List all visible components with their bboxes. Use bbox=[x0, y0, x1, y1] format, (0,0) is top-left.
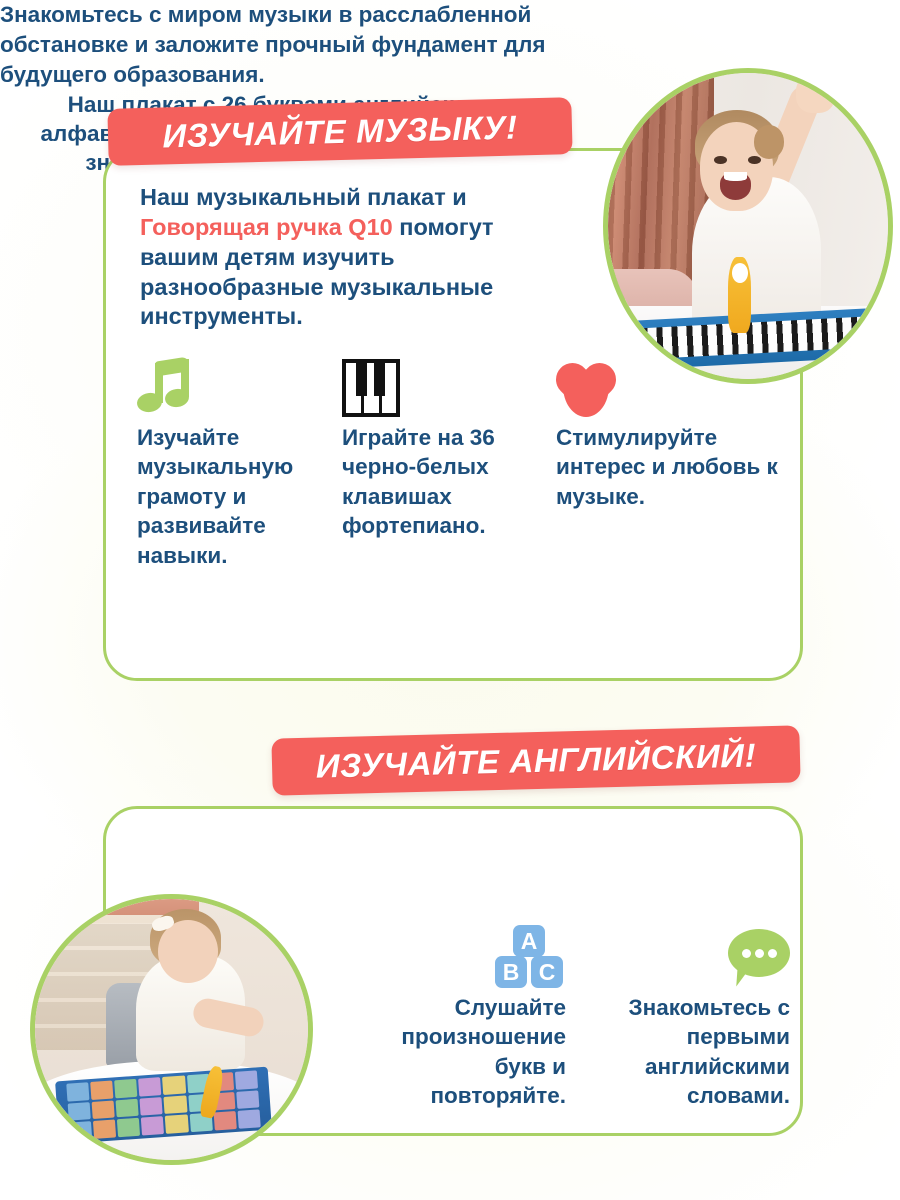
talking-pen-highlight: Говорящая ручка Q10 bbox=[140, 214, 393, 240]
music-intro-part1: Наш музыкальный плакат и bbox=[140, 184, 467, 210]
english-feature-1: A B C Слушайте произношение букв и повто… bbox=[378, 925, 566, 1111]
music-feature-3-label: Стимулируйте интерес и любовь к музыке. bbox=[556, 423, 786, 511]
english-feature-2: Знакомьтесь с первыми английскими словам… bbox=[586, 925, 790, 1111]
music-intro-text: Наш музыкальный плакат и Говорящая ручка… bbox=[140, 183, 550, 332]
abc-blocks-icon: A B C bbox=[378, 925, 566, 989]
english-banner: ИЗУЧАЙТЕ АНГЛИЙСКИЙ! bbox=[271, 725, 800, 795]
music-feature-2-label: Играйте на 36 черно-белых клавишах форте… bbox=[342, 423, 532, 541]
alphabet-cell bbox=[138, 1077, 161, 1096]
alphabet-cell bbox=[68, 1121, 91, 1140]
music-photo-image bbox=[608, 73, 888, 379]
alphabet-cell bbox=[66, 1082, 89, 1101]
alphabet-cell bbox=[93, 1119, 116, 1138]
english-feature-2-label: Знакомьтесь с первыми английскими словам… bbox=[586, 993, 790, 1111]
music-photo bbox=[603, 68, 893, 384]
alphabet-cell bbox=[237, 1109, 260, 1128]
promo-canvas: ИЗУЧАЙТЕ МУЗЫКУ! Наш музыкальный плакат … bbox=[0, 0, 900, 1200]
alphabet-cell bbox=[67, 1102, 90, 1121]
music-feature-2: Играйте на 36 черно-белых клавишах форте… bbox=[342, 355, 532, 541]
music-banner-label: ИЗУЧАЙТЕ МУЗЫКУ! bbox=[162, 108, 518, 155]
music-note-icon bbox=[137, 355, 323, 417]
chat-bubble-icon bbox=[586, 925, 790, 989]
alphabet-cell bbox=[164, 1095, 187, 1114]
abc-block-b: B bbox=[495, 956, 527, 988]
alphabet-cell bbox=[117, 1118, 140, 1137]
alphabet-cell bbox=[115, 1098, 138, 1117]
music-feature-1-label: Изучайте музыкальную грамоту и развивайт… bbox=[137, 423, 323, 570]
alphabet-cell bbox=[236, 1090, 259, 1109]
alphabet-cell bbox=[235, 1070, 258, 1089]
english-photo-image bbox=[35, 899, 308, 1160]
alphabet-cell bbox=[140, 1097, 163, 1116]
english-photo bbox=[30, 894, 313, 1165]
alphabet-cell bbox=[91, 1100, 114, 1119]
english-banner-label: ИЗУЧАЙТЕ АНГЛИЙСКИЙ! bbox=[315, 736, 756, 785]
piano-keys-icon bbox=[342, 355, 532, 417]
english-feature-1-label: Слушайте произношение букв и повторяйте. bbox=[378, 993, 566, 1111]
alphabet-cell bbox=[114, 1079, 137, 1098]
music-outro-text: Знакомьтесь с миром музыки в расслабленн… bbox=[0, 0, 650, 90]
music-feature-1: Изучайте музыкальную грамоту и развивайт… bbox=[137, 355, 323, 570]
abc-block-c: C bbox=[531, 956, 563, 988]
alphabet-cell bbox=[90, 1081, 113, 1100]
alphabet-cell bbox=[165, 1114, 188, 1133]
abc-block-a: A bbox=[513, 925, 545, 957]
music-banner: ИЗУЧАЙТЕ МУЗЫКУ! bbox=[107, 97, 572, 166]
alphabet-cell bbox=[213, 1111, 236, 1130]
alphabet-cell bbox=[162, 1075, 185, 1094]
alphabet-cell bbox=[141, 1116, 164, 1135]
